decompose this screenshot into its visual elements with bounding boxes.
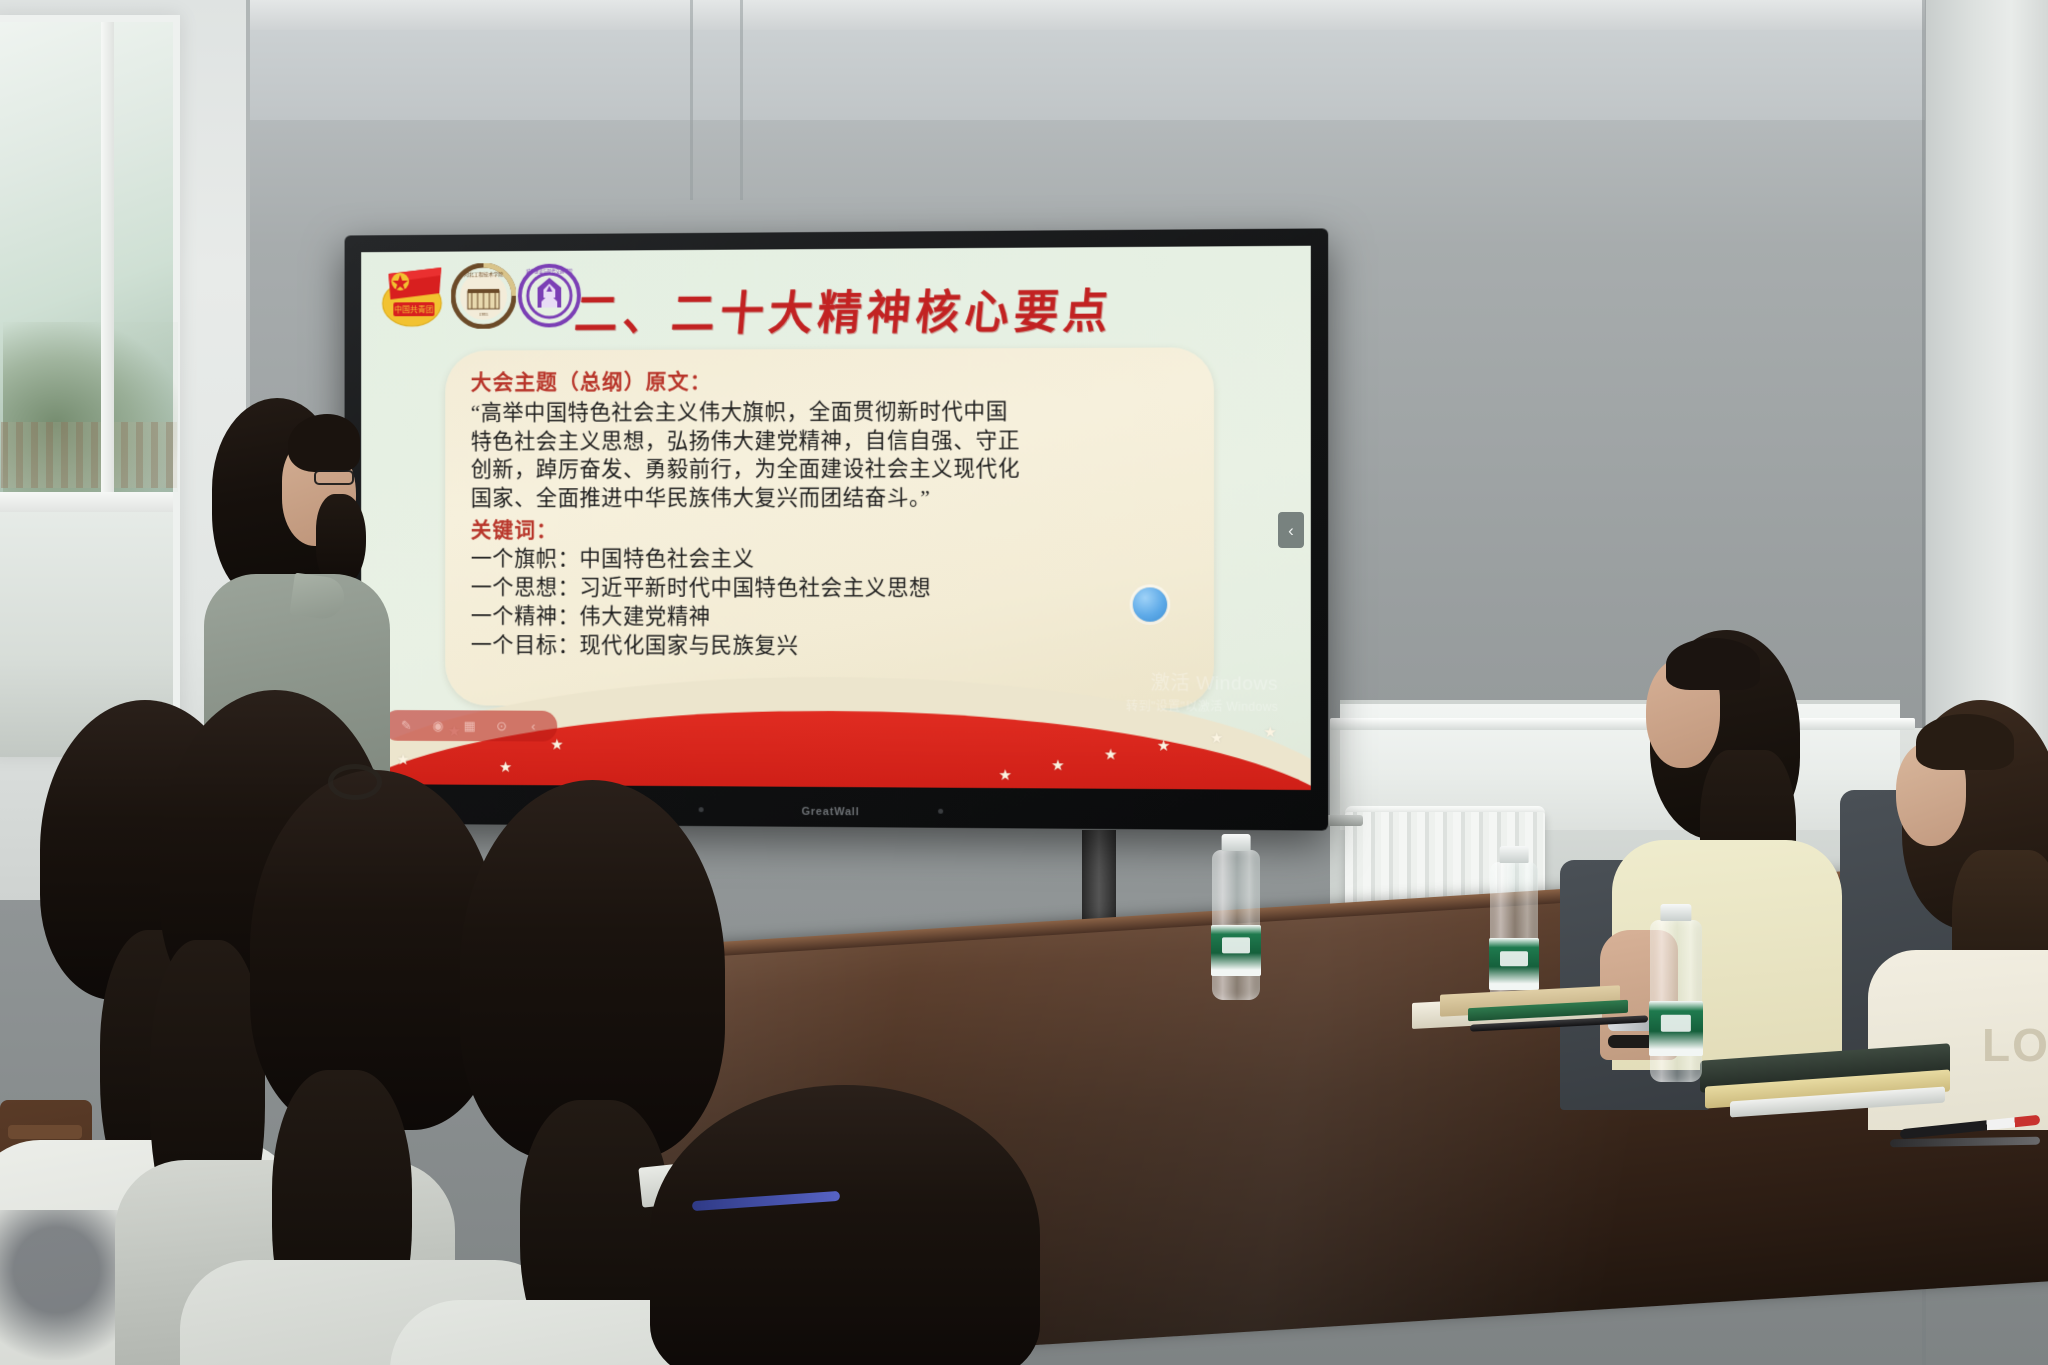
svg-text:河北工程技术学院: 河北工程技术学院	[464, 271, 503, 278]
attendee-hair-tie	[1608, 1035, 1654, 1048]
bottle-cap	[1222, 834, 1251, 851]
university-emblem: 河北工程技术学院 1993	[451, 261, 516, 334]
presentation-slide[interactable]: 中国共青团	[361, 246, 1311, 790]
previous-slide-icon[interactable]: ‹	[522, 717, 545, 736]
display-brand-label: GreatWall	[801, 806, 859, 818]
bottle-label-mark	[1222, 938, 1250, 953]
slide-card-heading: 大会主题（总纲）原文：	[471, 364, 1188, 397]
slide-quote-line: 特色社会主义思想，弘扬伟大建党精神，自信自强、守正	[471, 426, 1188, 456]
slide-thumbnails-icon[interactable]: ▦	[458, 716, 481, 735]
slide-quote-line: “高举中国特色社会主义伟大旗帜，全面贯彻新时代中国	[471, 397, 1188, 428]
bottle-label	[1489, 938, 1539, 990]
water-bottle-3	[1650, 920, 1702, 1082]
communist-youth-league-emblem: 中国共青团	[379, 262, 449, 335]
hair-clip	[328, 764, 382, 800]
window	[0, 15, 180, 755]
attendee-right-1	[1600, 630, 1870, 1060]
bottle-cap	[1500, 846, 1529, 863]
attendee-shirt-print: LO	[1982, 1018, 2048, 1090]
bottle-label-mark	[1661, 1015, 1691, 1032]
water-bottle-1	[1212, 850, 1260, 1000]
bottle-cap	[1660, 904, 1691, 921]
slide-quote-line: 国家、全面推进中华民族伟大复兴而团结奋斗。”	[471, 483, 1188, 512]
slide-logos: 中国共青团	[379, 261, 581, 335]
blue-bullet-dot	[1133, 587, 1167, 621]
svg-text:中国共青团: 中国共青团	[394, 305, 433, 315]
window-mullion	[0, 492, 173, 514]
slide-keyword-item: 一个目标：现代化国家与民族复兴	[471, 632, 1188, 663]
presenter-hair-side	[316, 494, 366, 586]
window-mullion	[101, 22, 114, 492]
institute-emblem: 城市建设与现代交通学院	[518, 261, 581, 333]
attendee-front-5	[610, 1085, 1080, 1365]
slide-content-card: 大会主题（总纲）原文： “高举中国特色社会主义伟大旗帜，全面贯彻新时代中国 特色…	[445, 347, 1214, 708]
slide-quote-line: 创新，踔厉奋发、勇毅前行，为全面建设社会主义现代化	[471, 455, 1188, 485]
presenter-glasses	[314, 470, 354, 485]
chevron-left-icon[interactable]: ‹	[1278, 512, 1304, 548]
smart-display[interactable]: GreatWall	[345, 228, 1329, 830]
slide-keywords-heading: 关键词：	[471, 514, 1188, 544]
display-sensor	[938, 809, 943, 814]
bottle-label	[1211, 925, 1261, 976]
window-fence	[1, 422, 177, 488]
magnifier-icon[interactable]: ⊙	[490, 716, 513, 735]
wall-seam	[740, 0, 743, 200]
attendee-hair-front	[1916, 714, 2014, 770]
classroom-scene: GreatWall	[0, 0, 2048, 1365]
slide-keyword-item: 一个思想：习近平新时代中国特色社会主义思想	[471, 574, 1188, 604]
ceiling-beam	[250, 0, 1925, 30]
presenter-hair-front	[288, 414, 360, 472]
attendee-hair	[650, 1085, 1040, 1365]
attendee-hair-front	[1666, 638, 1760, 690]
slide-keyword-item: 一个精神：伟大建党精神	[471, 603, 1188, 634]
bottle-label	[1649, 1001, 1703, 1056]
slide-keyword-item: 一个旗帜：中国特色社会主义	[471, 545, 1188, 575]
bottle-label-mark	[1500, 951, 1528, 967]
attendee-right-2: LO	[1862, 700, 2048, 1100]
slide-title: 二、二十大精神核心要点	[572, 273, 1116, 344]
wall-seam	[690, 0, 693, 200]
svg-text:1993: 1993	[479, 312, 489, 317]
